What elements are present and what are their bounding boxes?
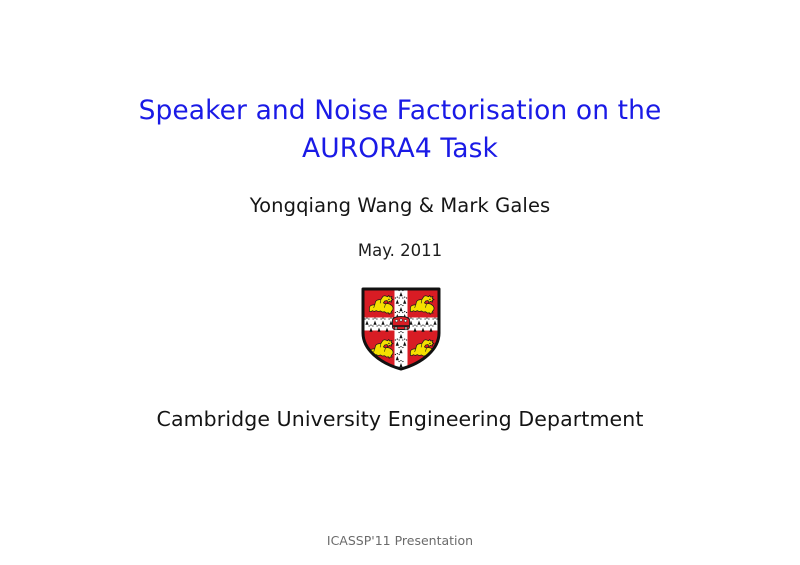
title-line-1: Speaker and Noise Factorisation on the	[0, 92, 800, 130]
title-line-2: AURORA4 Task	[0, 130, 800, 168]
page-title: Speaker and Noise Factorisation on the A…	[0, 92, 800, 168]
title-slide: Speaker and Noise Factorisation on the A…	[0, 0, 800, 565]
cambridge-crest-icon	[361, 287, 441, 371]
date-line: May. 2011	[0, 240, 800, 262]
institution-line: Cambridge University Engineering Departm…	[0, 405, 800, 433]
slide-footer: ICASSP'11 Presentation	[0, 532, 800, 549]
authors-line: Yongqiang Wang & Mark Gales	[0, 193, 800, 219]
